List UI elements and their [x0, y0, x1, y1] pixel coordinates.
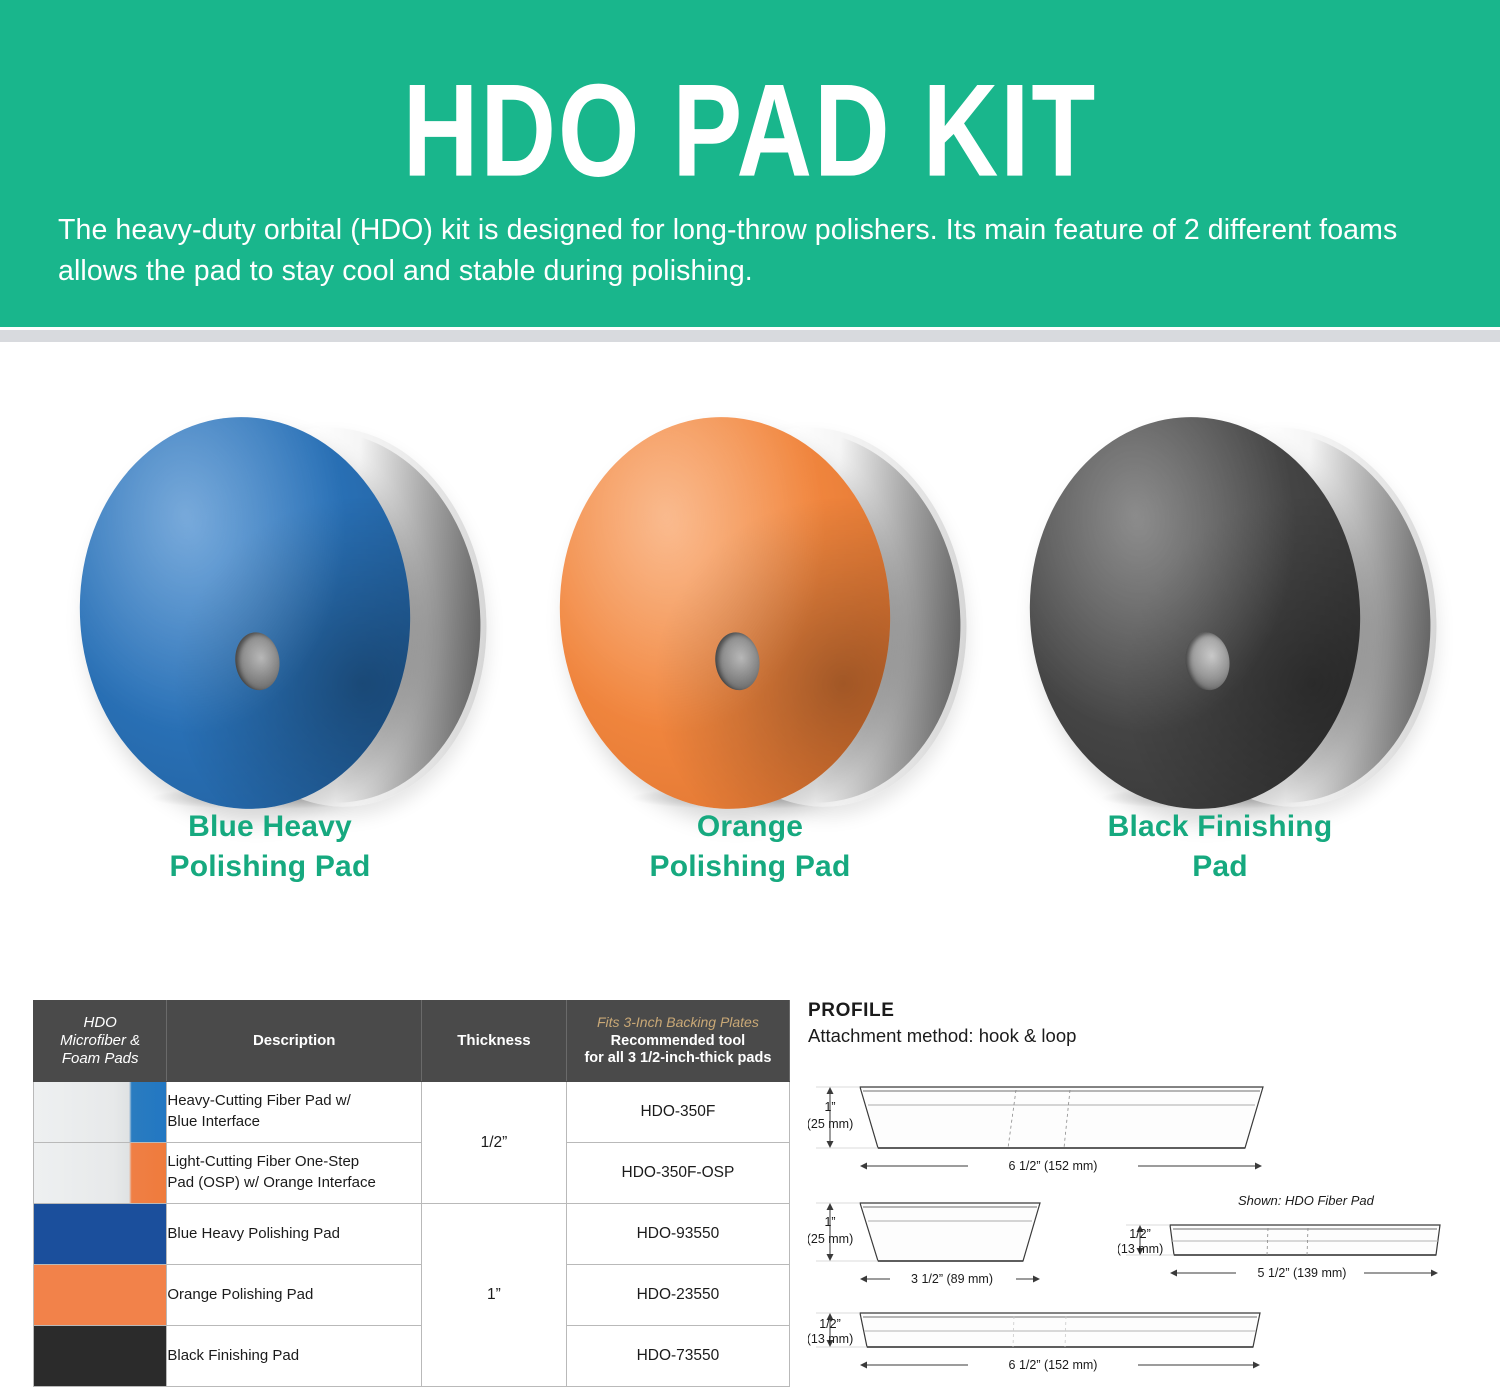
profile-diagrams: 1” (25 mm) 6 1/2” (152 mm) [808, 1063, 1468, 1363]
caption-line-1: Blue Heavy [188, 810, 352, 843]
profile-section: PROFILE Attachment method: hook & loop [808, 1000, 1468, 1363]
pad-swatch-cell [34, 1143, 167, 1204]
description-line-2: Pad (OSP) w/ Orange Interface [167, 1174, 375, 1191]
table-row: Heavy-Cutting Fiber Pad w/ Blue Interfac… [34, 1082, 790, 1143]
width-label: 6 1/2” (152 mm) [1009, 1358, 1098, 1372]
product-caption-black: Black Finishing Pad [1010, 807, 1430, 886]
header-line-3: Foam Pads [62, 1050, 139, 1067]
product-caption-blue: Blue Heavy Polishing Pad [60, 807, 480, 886]
thickness-cell: 1/2” [422, 1082, 567, 1204]
pad-description-cell: Heavy-Cutting Fiber Pad w/ Blue Interfac… [167, 1082, 422, 1143]
height-label-line-2: (13 mm) [808, 1332, 853, 1346]
width-label: 6 1/2” (152 mm) [1009, 1159, 1098, 1173]
column-header-recommended-tool: Fits 3-Inch Backing Plates Recommended t… [566, 1001, 789, 1082]
height-label-line-1: 1/2” [819, 1317, 841, 1331]
header-line-1: Recommended tool [573, 1033, 783, 1051]
pad-swatch-cell [34, 1326, 167, 1387]
pad-center-hole [1182, 629, 1234, 693]
height-label-line-1: 1/2” [1129, 1227, 1151, 1241]
tool-code-cell: HDO-23550 [566, 1265, 789, 1326]
profile-diagram-6-5in-half-in: 1/2” (13 mm) 6 1/2” (152 mm) [808, 1291, 1288, 1383]
profile-attachment-method: Attachment method: hook & loop [808, 1025, 1468, 1047]
header-banner: HDO PAD KIT The heavy-duty orbital (HDO)… [0, 0, 1500, 327]
spec-table-header: HDO Microfiber & Foam Pads Description T… [34, 1001, 790, 1082]
figure-note: Shown: HDO Fiber Pad [1238, 1193, 1375, 1208]
pad-swatch-cell [34, 1204, 167, 1265]
width-label: 3 1/2” (89 mm) [911, 1272, 993, 1286]
tool-code-cell: HDO-350F-OSP [566, 1143, 789, 1204]
height-label-line-2: (25 mm) [808, 1232, 853, 1246]
pad-image-black [1010, 355, 1430, 795]
pad-image-orange [540, 355, 960, 795]
swatch-solid-blue [34, 1204, 166, 1264]
pad-center-hole [232, 629, 284, 693]
pad-description-cell: Light-Cutting Fiber One-Step Pad (OSP) w… [167, 1143, 422, 1204]
product-black-finishing-pad: Black Finishing Pad [1010, 355, 1430, 915]
thickness-cell: 1” [422, 1204, 567, 1387]
pad-description-cell: Black Finishing Pad [167, 1326, 422, 1387]
swatch-fiber-blue [34, 1082, 166, 1142]
caption-line-2: Polishing Pad [650, 850, 851, 883]
caption-line-1: Orange [697, 810, 803, 843]
width-label: 5 1/2” (139 mm) [1258, 1266, 1347, 1280]
product-caption-orange: Orange Polishing Pad [540, 807, 960, 886]
profile-diagram-6-5in-1in: 1” (25 mm) 6 1/2” (152 mm) [808, 1063, 1288, 1181]
table-header-row: HDO Microfiber & Foam Pads Description T… [34, 1001, 790, 1082]
section-divider [0, 330, 1500, 342]
swatch-fiber-orange [34, 1143, 166, 1203]
profile-heading: PROFILE [808, 1000, 1468, 1022]
spec-table: HDO Microfiber & Foam Pads Description T… [33, 1000, 790, 1387]
description-line-2: Blue Interface [167, 1113, 260, 1130]
tool-code-cell: HDO-350F [566, 1082, 789, 1143]
header-line-2: Microfiber & [60, 1032, 140, 1049]
caption-line-2: Polishing Pad [170, 850, 371, 883]
tool-code-cell: HDO-93550 [566, 1204, 789, 1265]
height-label-line-2: (25 mm) [808, 1117, 853, 1131]
table-row: Light-Cutting Fiber One-Step Pad (OSP) w… [34, 1143, 790, 1204]
profile-diagram-3-5in-1in: 1” (25 mm) 3 1/2” (89 mm) [808, 1185, 1098, 1295]
header-line-1: HDO [84, 1014, 117, 1031]
pad-description-cell: Blue Heavy Polishing Pad [167, 1204, 422, 1265]
column-header-description: Description [167, 1001, 422, 1082]
pad-description-cell: Orange Polishing Pad [167, 1265, 422, 1326]
table-row: Blue Heavy Polishing Pad 1” HDO-93550 [34, 1204, 790, 1265]
swatch-solid-orange [34, 1265, 166, 1325]
caption-line-1: Black Finishing [1108, 810, 1333, 843]
description-line-1: Heavy-Cutting Fiber Pad w/ [167, 1092, 350, 1109]
height-label-line-1: 1” [824, 1100, 835, 1114]
spec-table-body: Heavy-Cutting Fiber Pad w/ Blue Interfac… [34, 1082, 790, 1387]
tool-code-cell: HDO-73550 [566, 1326, 789, 1387]
header-line-2: for all 3 1/2-inch-thick pads [573, 1050, 783, 1068]
caption-line-2: Pad [1192, 850, 1248, 883]
profile-diagram-5-5in-half-in: Shown: HDO Fiber Pad 1/2” (13 mm) [1118, 1185, 1468, 1295]
table-row: Black Finishing Pad HDO-73550 [34, 1326, 790, 1387]
swatch-solid-black [34, 1326, 166, 1386]
column-header-thickness: Thickness [422, 1001, 567, 1082]
page-title: HDO PAD KIT [79, 0, 1421, 198]
header-kicker: Fits 3-Inch Backing Plates [573, 1014, 783, 1031]
product-orange-polishing-pad: Orange Polishing Pad [540, 355, 960, 915]
table-row: Orange Polishing Pad HDO-23550 [34, 1265, 790, 1326]
pad-swatch-cell [34, 1265, 167, 1326]
height-label-line-2: (13 mm) [1118, 1242, 1163, 1256]
product-showcase: Blue Heavy Polishing Pad Orange Polishin… [0, 355, 1500, 915]
height-label-line-1: 1” [824, 1215, 835, 1229]
pad-image-blue [60, 355, 480, 795]
description-line-1: Light-Cutting Fiber One-Step [167, 1153, 359, 1170]
pad-swatch-cell [34, 1082, 167, 1143]
column-header-pads: HDO Microfiber & Foam Pads [34, 1001, 167, 1082]
product-blue-heavy-polishing-pad: Blue Heavy Polishing Pad [60, 355, 480, 915]
pad-center-hole [712, 629, 764, 693]
